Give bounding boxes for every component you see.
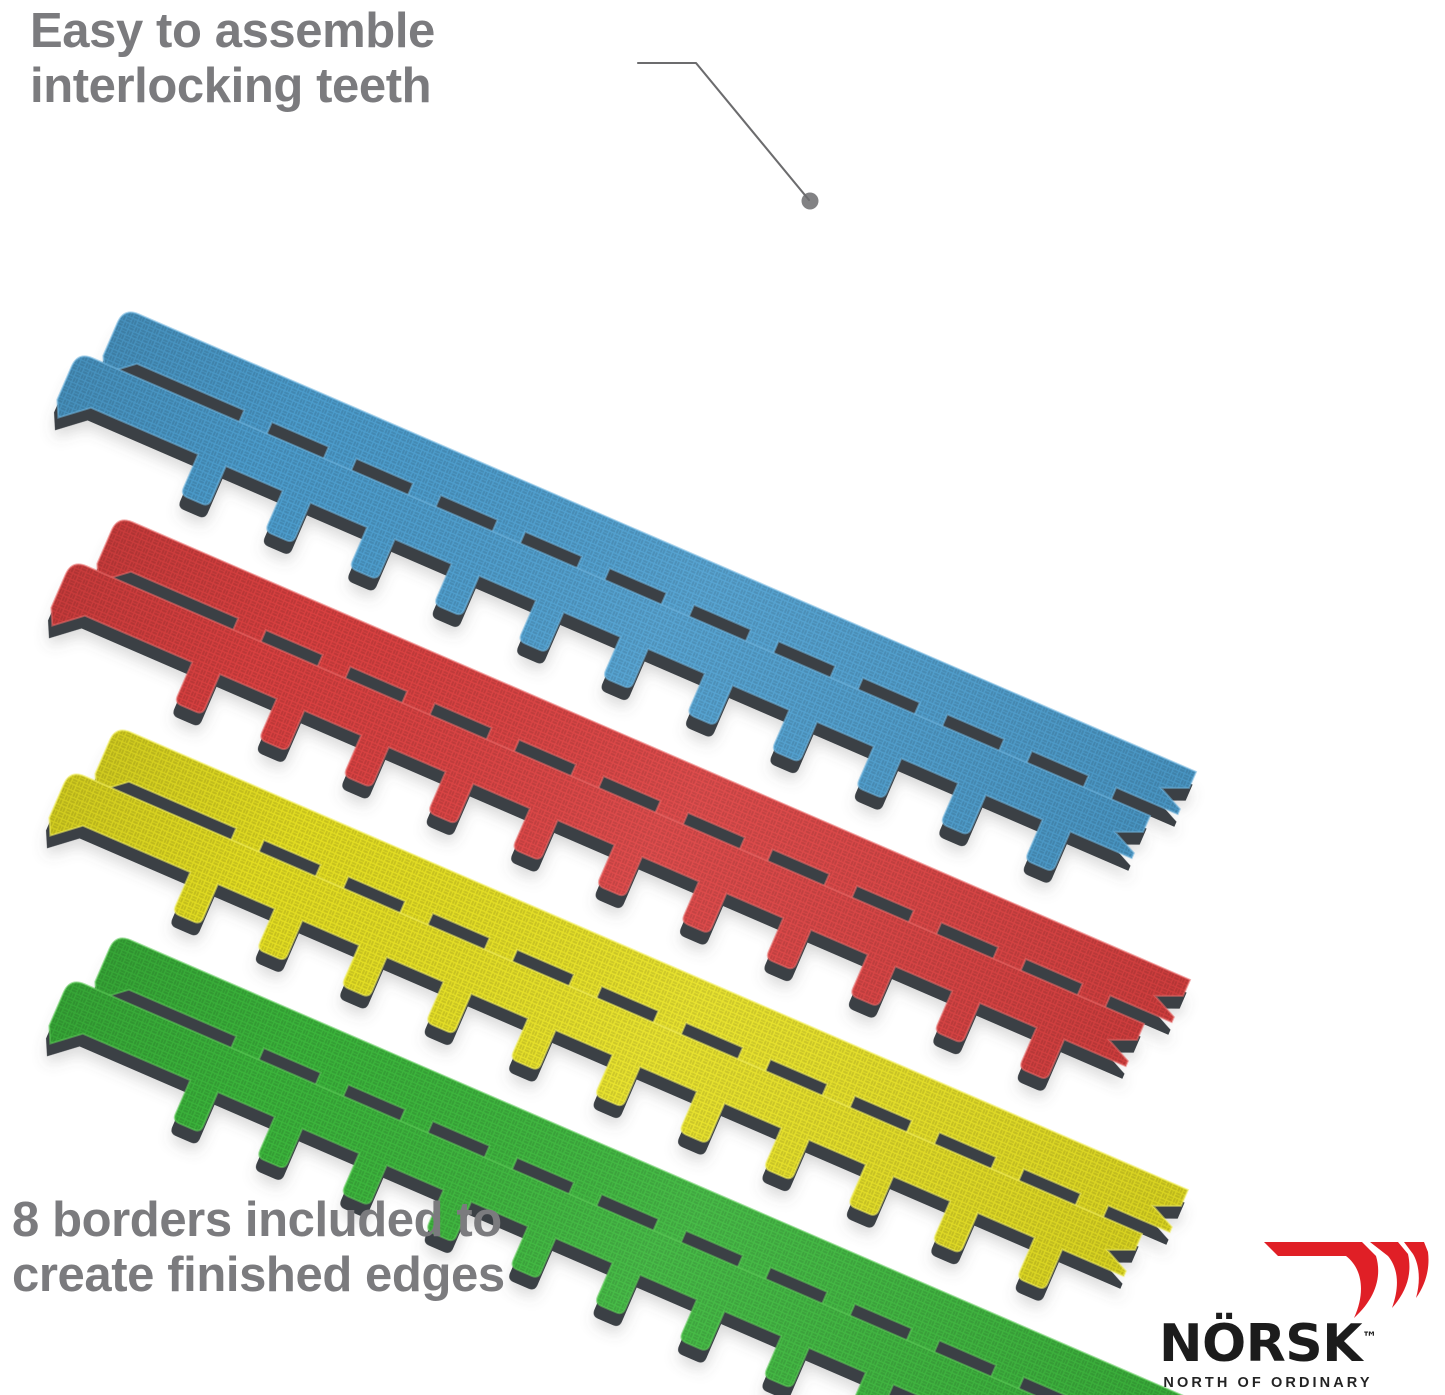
product-image-canvas: Easy to assemble interlocking teeth 8 bo… — [0, 0, 1445, 1395]
leader-dot — [802, 193, 819, 210]
callout-leader-line — [600, 40, 860, 230]
brand-logo: NÖRSK™ NORTH OF ORDINARY — [1098, 1236, 1438, 1388]
brand-wordmark: NÖRSK™ — [1098, 1318, 1438, 1370]
callout-text-bottom: 8 borders included to create finished ed… — [12, 1193, 505, 1303]
wing-shape-large — [1264, 1242, 1378, 1318]
brand-tagline: NORTH OF ORDINARY — [1098, 1376, 1438, 1391]
brand-trademark: ™ — [1362, 1329, 1377, 1347]
callout-text-top: Easy to assemble interlocking teeth — [30, 4, 435, 114]
norsk-wing-mark-icon — [1258, 1236, 1430, 1324]
leader-line-path — [638, 63, 809, 200]
brand-wordmark-text: NÖRSK — [1159, 1314, 1362, 1374]
